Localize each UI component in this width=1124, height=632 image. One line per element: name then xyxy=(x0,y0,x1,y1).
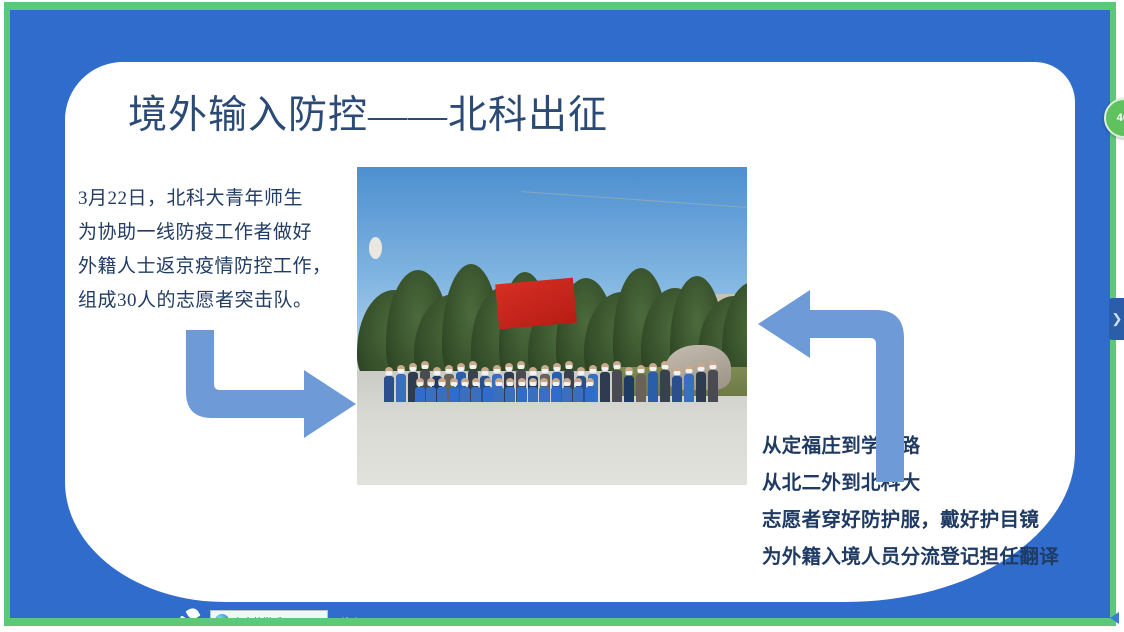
photo-person-kneeling xyxy=(517,387,527,402)
collapse-arrow-icon[interactable] xyxy=(1110,612,1119,624)
photo-person-kneeling xyxy=(483,387,493,402)
photo-crowd xyxy=(380,320,723,403)
search-button[interactable]: 搜索一下 xyxy=(334,610,388,618)
photo-person-kneeling xyxy=(551,387,561,402)
photo-person-kneeling xyxy=(426,387,436,402)
photo-person-kneeling xyxy=(562,387,572,402)
photo-person xyxy=(612,370,622,402)
left-paragraph-line: 组成30人的志愿者突击队。 xyxy=(78,284,358,318)
left-paragraph-line: 外籍人士返京疫情防控工作， xyxy=(78,250,358,284)
photo-person xyxy=(660,370,670,402)
search-input[interactable]: e 变态的游戏 xyxy=(210,610,328,618)
photo-person-kneeling xyxy=(539,387,549,402)
right-paragraph-line: 为外籍入境人员分流登记担任翻译 xyxy=(762,539,1092,576)
pinwheel-logo-icon[interactable] xyxy=(178,608,204,618)
photo-person xyxy=(384,376,394,402)
photo-person xyxy=(672,376,682,402)
photo-person xyxy=(624,376,634,402)
photo-person-kneeling xyxy=(415,387,425,402)
arrow-down-right xyxy=(178,330,360,442)
photo-person xyxy=(708,370,718,402)
photo-person-kneeling xyxy=(505,387,515,402)
photo-person-kneeling xyxy=(528,387,538,402)
photo-person-kneeling xyxy=(460,387,470,402)
search-widget[interactable]: e 变态的游戏 搜索一下 xyxy=(178,607,388,618)
photo-person xyxy=(648,372,658,402)
screenshot-root: 境外输入防控——北科出征 3月22日，北科大青年师生 为协助一线防疫工作者做好 … xyxy=(0,0,1124,632)
browser-e-icon: e xyxy=(215,614,229,618)
side-panel-toggle[interactable]: ❯ xyxy=(1109,298,1124,340)
photo-person-kneeling xyxy=(573,387,583,402)
arrow-up-left xyxy=(758,282,908,482)
photo-person-kneeling xyxy=(437,387,447,402)
left-paragraph-line: 为协助一线防疫工作者做好 xyxy=(78,216,358,250)
photo-person-kneeling xyxy=(585,387,595,402)
left-paragraph-line: 3月22日，北科大青年师生 xyxy=(78,182,358,216)
photo-person xyxy=(396,374,406,402)
left-paragraph: 3月22日，北科大青年师生 为协助一线防疫工作者做好 外籍人士返京疫情防控工作，… xyxy=(78,182,358,318)
search-input-value: 变态的游戏 xyxy=(233,614,283,619)
photo-person xyxy=(600,372,610,402)
photo-person xyxy=(696,372,706,402)
slide-background: 境外输入防控——北科出征 3月22日，北科大青年师生 为协助一线防疫工作者做好 … xyxy=(10,10,1110,618)
photo-person xyxy=(636,374,646,402)
photo-person xyxy=(684,374,694,402)
photo-person-kneeling xyxy=(471,387,481,402)
right-paragraph-line: 志愿者穿好防护服，戴好护目镜 xyxy=(762,502,1092,539)
photo-person-kneeling xyxy=(494,387,504,402)
group-photo xyxy=(357,167,747,485)
photo-person-kneeling xyxy=(449,387,459,402)
slide-title: 境外输入防控——北科出征 xyxy=(128,92,888,140)
